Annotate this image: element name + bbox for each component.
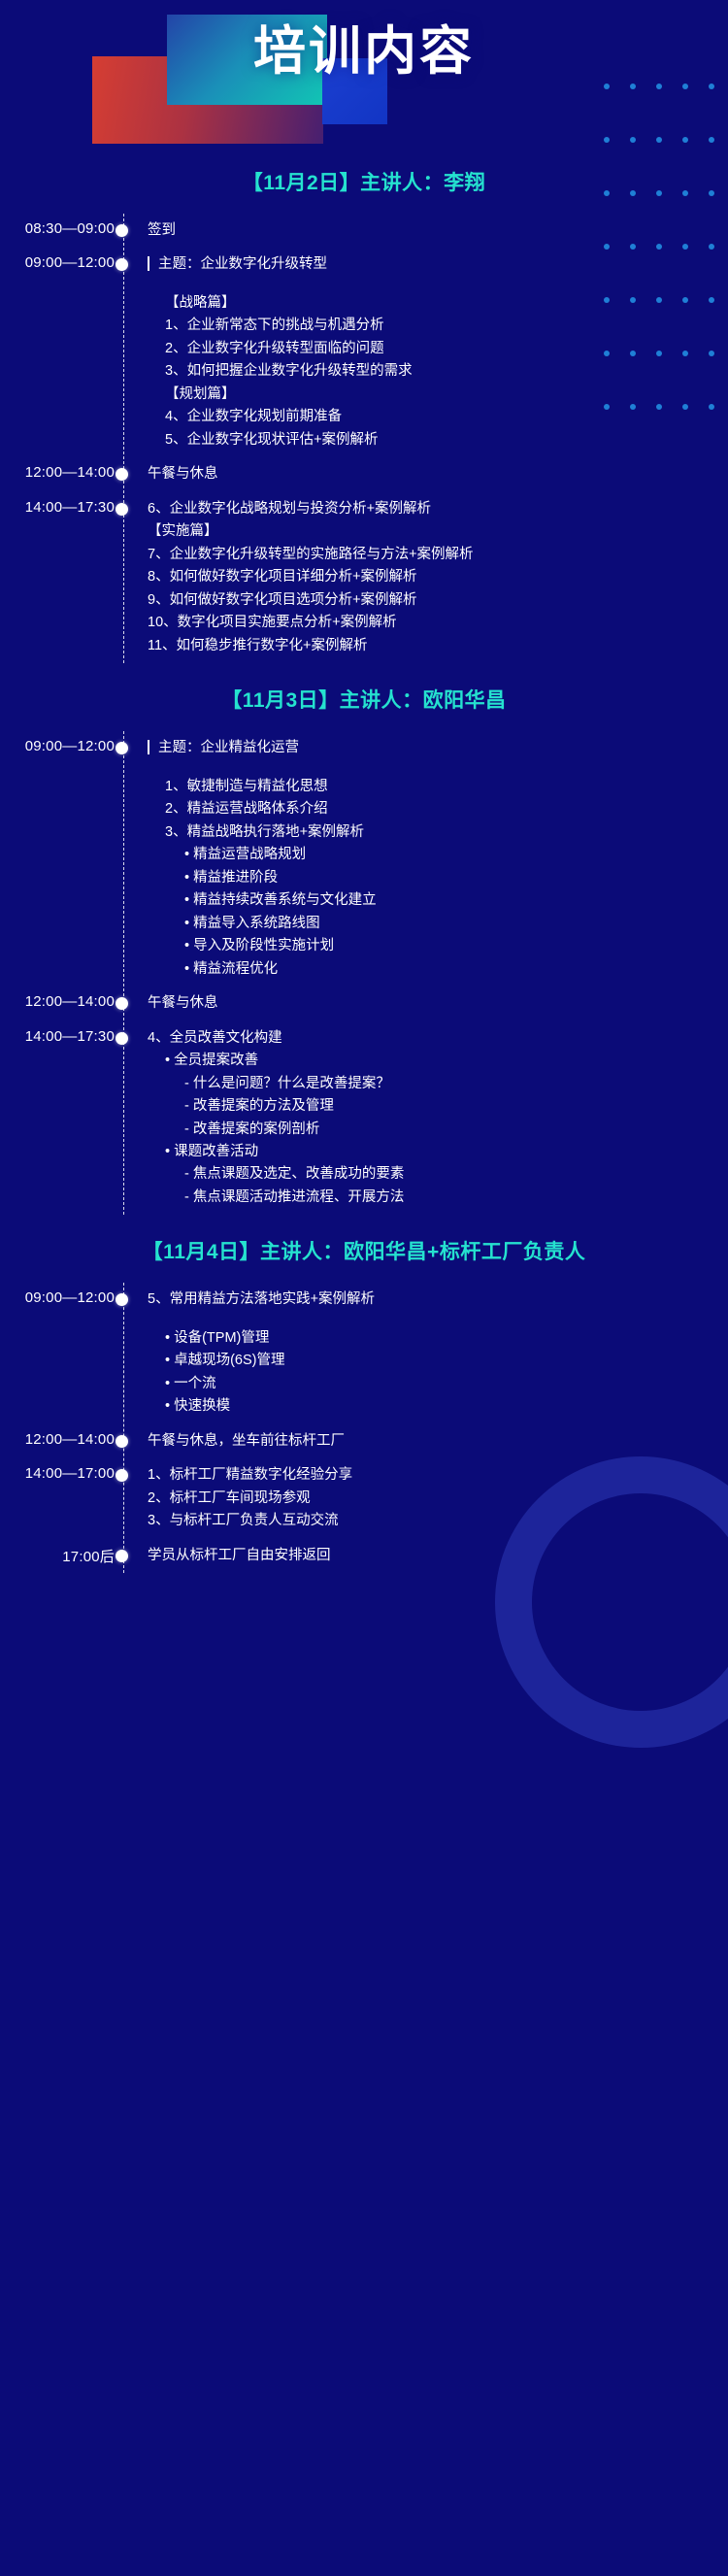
row-content: 主题：企业精益化运营1、敏捷制造与精益化思想2、精益运营战略体系介绍3、精益战略… bbox=[134, 737, 392, 981]
session-line: 5、常用精益方法落地实践+案例解析 bbox=[148, 1288, 375, 1311]
schedule-row: 17:00后学员从标杆工厂自由安排返回 bbox=[0, 1539, 728, 1573]
session-line: 6、企业数字化战略规划与投资分析+案例解析 bbox=[148, 498, 474, 520]
session-topic: 主题：企业精益化运营 bbox=[148, 737, 377, 759]
time-label: 14:00—17:00 bbox=[0, 1464, 115, 1482]
session-line: - 焦点课题及选定、改善成功的要素 bbox=[148, 1163, 404, 1186]
session-line: 2、标杆工厂车间现场参观 bbox=[148, 1488, 352, 1510]
session-line: 2、企业数字化升级转型面临的问题 bbox=[148, 338, 413, 360]
session-line: • 精益推进阶段 bbox=[148, 867, 377, 889]
time-label: 12:00—14:00 bbox=[0, 463, 115, 481]
schedule-row: 14:00—17:001、标杆工厂精益数字化经验分享2、标杆工厂车间现场参观3、… bbox=[0, 1458, 728, 1538]
schedule-row: 12:00—14:00午餐与休息，坐车前往标杆工厂 bbox=[0, 1424, 728, 1458]
session-line: - 改善提案的案例剖析 bbox=[148, 1119, 404, 1141]
session-line: • 导入及阶段性实施计划 bbox=[148, 935, 377, 957]
time-label: 09:00—12:00 bbox=[0, 253, 115, 271]
session-line: 10、数字化项目实施要点分析+案例解析 bbox=[148, 612, 474, 634]
session-line: 9、如何做好数字化项目选项分析+案例解析 bbox=[148, 589, 474, 612]
row-content: 签到 bbox=[134, 219, 191, 242]
timeline-dot bbox=[116, 1032, 128, 1045]
session-line: • 精益运营战略规划 bbox=[148, 844, 377, 866]
time-label: 12:00—14:00 bbox=[0, 1430, 115, 1448]
session-line: 4、企业数字化规划前期准备 bbox=[148, 406, 413, 428]
row-content: 午餐与休息 bbox=[134, 992, 234, 1015]
row-content: 主题：企业数字化升级转型【战略篇】1、企业新常态下的挑战与机遇分析2、企业数字化… bbox=[134, 253, 428, 452]
timeline-dot bbox=[116, 1293, 128, 1306]
day-heading: 【11月3日】主讲人：欧阳华昌 bbox=[0, 685, 728, 714]
session-line: 1、标杆工厂精益数字化经验分享 bbox=[148, 1464, 352, 1487]
row-content: 6、企业数字化战略规划与投资分析+案例解析【实施篇】7、企业数字化升级转型的实施… bbox=[134, 498, 489, 657]
session-line: 3、与标杆工厂负责人互动交流 bbox=[148, 1510, 352, 1532]
session-line: - 焦点课题活动推进流程、开展方法 bbox=[148, 1187, 404, 1209]
session-line: 3、精益战略执行落地+案例解析 bbox=[148, 821, 377, 844]
row-content: 午餐与休息，坐车前往标杆工厂 bbox=[134, 1430, 360, 1453]
schedule-row: 12:00—14:00午餐与休息 bbox=[0, 457, 728, 491]
session-line: 1、敏捷制造与精益化思想 bbox=[148, 776, 377, 798]
time-label: 09:00—12:00 bbox=[0, 737, 115, 754]
row-content: 4、全员改善文化构建• 全员提案改善- 什么是问题？什么是改善提案？- 改善提案… bbox=[134, 1027, 419, 1210]
day-timeline: 09:00—12:00主题：企业精益化运营1、敏捷制造与精益化思想2、精益运营战… bbox=[0, 731, 728, 1215]
timeline-dot bbox=[116, 1550, 128, 1562]
session-line: 7、企业数字化升级转型的实施路径与方法+案例解析 bbox=[148, 544, 474, 566]
time-label: 14:00—17:30 bbox=[0, 1027, 115, 1045]
session-line: 5、企业数字化现状评估+案例解析 bbox=[148, 429, 413, 452]
session-line: 【战略篇】 bbox=[148, 292, 413, 315]
session-line: 【规划篇】 bbox=[148, 384, 413, 406]
timeline-dot bbox=[116, 742, 128, 754]
schedule-row: 12:00—14:00午餐与休息 bbox=[0, 987, 728, 1020]
timeline-dot bbox=[116, 997, 128, 1010]
session-line: • 精益导入系统路线图 bbox=[148, 913, 377, 935]
session-line: - 改善提案的方法及管理 bbox=[148, 1095, 404, 1118]
row-content: 1、标杆工厂精益数字化经验分享2、标杆工厂车间现场参观3、与标杆工厂负责人互动交… bbox=[134, 1464, 368, 1532]
timeline-dot bbox=[116, 503, 128, 516]
day-heading: 【11月2日】主讲人：李翔 bbox=[0, 167, 728, 196]
day-timeline: 08:30—09:00签到09:00—12:00主题：企业数字化升级转型【战略篇… bbox=[0, 214, 728, 663]
timeline-dot bbox=[116, 1435, 128, 1448]
session-line: 签到 bbox=[148, 219, 176, 242]
session-line: - 什么是问题？什么是改善提案？ bbox=[148, 1073, 404, 1095]
session-line: 2、精益运营战略体系介绍 bbox=[148, 798, 377, 820]
session-line: • 设备(TPM)管理 bbox=[148, 1327, 375, 1350]
session-line: 【实施篇】 bbox=[148, 520, 474, 543]
time-label: 17:00后 bbox=[0, 1545, 115, 1566]
session-line: 3、如何把握企业数字化升级转型的需求 bbox=[148, 360, 413, 383]
timeline-dot bbox=[116, 1469, 128, 1482]
session-line: • 课题改善活动 bbox=[148, 1141, 404, 1163]
session-line: • 精益持续改善系统与文化建立 bbox=[148, 889, 377, 912]
session-line: • 一个流 bbox=[148, 1373, 375, 1395]
timeline-dot bbox=[116, 224, 128, 237]
schedule-container: 【11月2日】主讲人：李翔08:30—09:00签到09:00—12:00主题：… bbox=[0, 167, 728, 1573]
session-topic: 主题：企业数字化升级转型 bbox=[148, 253, 413, 276]
day-heading: 【11月4日】主讲人：欧阳华昌+标杆工厂负责人 bbox=[0, 1236, 728, 1265]
time-label: 12:00—14:00 bbox=[0, 992, 115, 1010]
timeline-dot bbox=[116, 468, 128, 481]
page-title: 培训内容 bbox=[0, 25, 728, 78]
schedule-row: 08:30—09:00签到 bbox=[0, 214, 728, 248]
session-line: 午餐与休息 bbox=[148, 463, 218, 485]
schedule-row: 09:00—12:00主题：企业精益化运营1、敏捷制造与精益化思想2、精益运营战… bbox=[0, 731, 728, 987]
schedule-row: 09:00—12:00主题：企业数字化升级转型【战略篇】1、企业新常态下的挑战与… bbox=[0, 248, 728, 457]
session-line: • 精益流程优化 bbox=[148, 958, 377, 981]
time-label: 09:00—12:00 bbox=[0, 1288, 115, 1306]
row-content: 5、常用精益方法落地实践+案例解析• 设备(TPM)管理• 卓越现场(6S)管理… bbox=[134, 1288, 390, 1418]
row-content: 学员从标杆工厂自由安排返回 bbox=[134, 1545, 347, 1567]
day-timeline: 09:00—12:005、常用精益方法落地实践+案例解析• 设备(TPM)管理•… bbox=[0, 1283, 728, 1573]
session-line: 午餐与休息，坐车前往标杆工厂 bbox=[148, 1430, 345, 1453]
session-line: • 卓越现场(6S)管理 bbox=[148, 1350, 375, 1372]
page-header: 培训内容 bbox=[0, 0, 728, 146]
session-line: 11、如何稳步推行数字化+案例解析 bbox=[148, 635, 474, 657]
session-line: • 全员提案改善 bbox=[148, 1050, 404, 1072]
time-label: 08:30—09:00 bbox=[0, 219, 115, 237]
session-line: 8、如何做好数字化项目详细分析+案例解析 bbox=[148, 566, 474, 588]
session-line: 学员从标杆工厂自由安排返回 bbox=[148, 1545, 331, 1567]
session-line: 午餐与休息 bbox=[148, 992, 218, 1015]
schedule-row: 14:00—17:304、全员改善文化构建• 全员提案改善- 什么是问题？什么是… bbox=[0, 1021, 728, 1216]
timeline-dot bbox=[116, 258, 128, 271]
schedule-row: 14:00—17:306、企业数字化战略规划与投资分析+案例解析【实施篇】7、企… bbox=[0, 492, 728, 663]
time-label: 14:00—17:30 bbox=[0, 498, 115, 516]
schedule-row: 09:00—12:005、常用精益方法落地实践+案例解析• 设备(TPM)管理•… bbox=[0, 1283, 728, 1423]
session-line: 4、全员改善文化构建 bbox=[148, 1027, 404, 1050]
session-line: 1、企业新常态下的挑战与机遇分析 bbox=[148, 315, 413, 337]
session-line: • 快速换模 bbox=[148, 1395, 375, 1418]
row-content: 午餐与休息 bbox=[134, 463, 234, 485]
